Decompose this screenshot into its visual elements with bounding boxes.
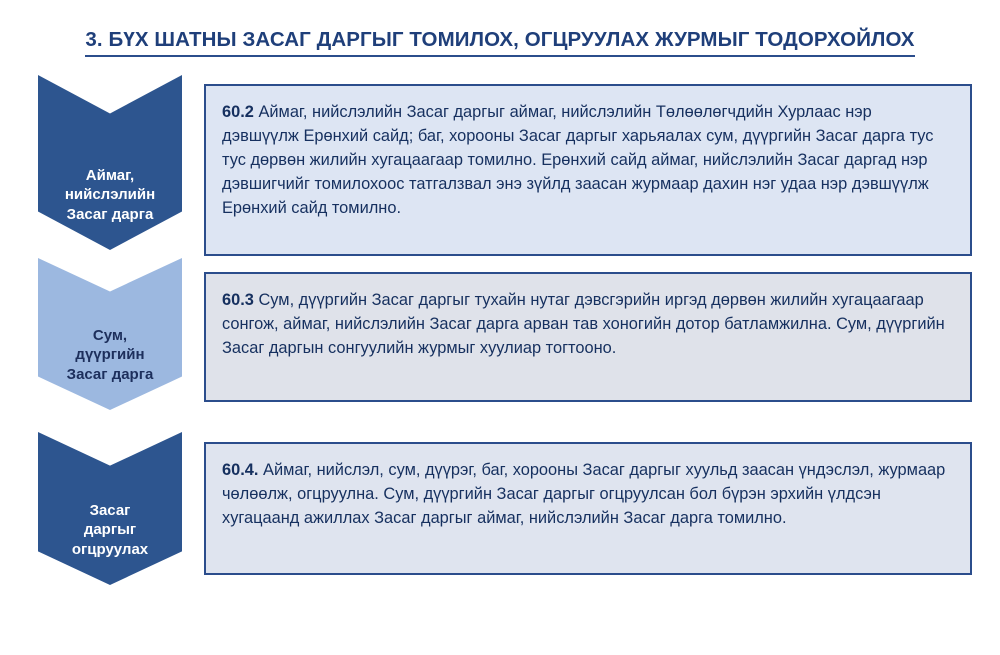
page-title: 3. БҮХ ШАТНЫ ЗАСАГ ДАРГЫГ ТОМИЛОХ, ОГЦРУ…	[0, 28, 1000, 57]
clause-panel-2: 60.3 Сум, дүүргийн Засаг даргыг тухайн н…	[204, 272, 972, 402]
clause-number-3: 60.4.	[222, 461, 258, 479]
clause-text-2: Сум, дүүргийн Засаг даргыг тухайн нутаг …	[222, 291, 945, 357]
clause-panel-3: 60.4. Аймаг, нийслэл, сум, дүүрэг, баг, …	[204, 442, 972, 575]
chevron-step-3-label: Засаг даргыг огцруулах	[72, 501, 148, 586]
clause-panel-1: 60.2 Аймаг, нийслэлийн Засаг даргыг айма…	[204, 84, 972, 256]
chevron-step-3: Засаг даргыг огцруулах	[38, 432, 182, 585]
chevron-step-1-label: Аймаг, нийслэлийн Засаг дарга	[65, 166, 155, 251]
clause-text-3: Аймаг, нийслэл, сум, дүүрэг, баг, хороон…	[222, 461, 945, 527]
chevron-step-1: Аймаг, нийслэлийн Засаг дарга	[38, 75, 182, 250]
clause-number-1: 60.2	[222, 103, 254, 121]
clause-number-2: 60.3	[222, 291, 254, 309]
chevron-step-2-label: Сум, дүүргийн Засаг дарга	[67, 326, 154, 411]
chevron-step-2: Сум, дүүргийн Засаг дарга	[38, 258, 182, 410]
page-title-text: 3. БҮХ ШАТНЫ ЗАСАГ ДАРГЫГ ТОМИЛОХ, ОГЦРУ…	[85, 28, 914, 57]
clause-text-1: Аймаг, нийслэлийн Засаг даргыг аймаг, ни…	[222, 103, 933, 217]
